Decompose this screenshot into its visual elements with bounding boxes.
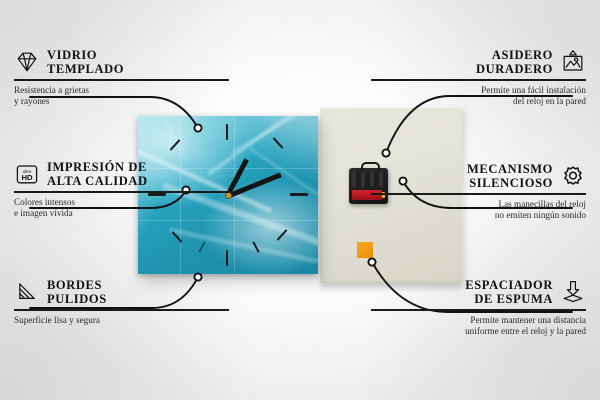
foam-spacer-arrow-icon <box>560 280 586 304</box>
feature-header: VIDRIO TEMPLADO <box>14 48 229 76</box>
feature-title: VIDRIO TEMPLADO <box>47 48 124 76</box>
diamond-icon <box>14 50 40 74</box>
gear-icon <box>560 164 586 188</box>
feature-title: MECANISMO SILENCIOSO <box>467 162 553 190</box>
feature-description: Colores intensos e imagen vívida <box>14 197 229 220</box>
clock-tick <box>273 137 284 149</box>
divider <box>14 79 229 81</box>
feature-title: ASIDERO DURADERO <box>476 48 553 76</box>
ultra-hd-badge-icon: ultra HD <box>14 162 40 186</box>
clock-tick <box>198 241 205 253</box>
feature-description: Permite una fácil instalación del reloj … <box>371 85 586 108</box>
feature-vidrio-templado: VIDRIO TEMPLADO Resistencia a grietas y … <box>14 48 229 107</box>
feature-description: Resistencia a grietas y rayones <box>14 85 229 108</box>
glass-gridline <box>138 220 318 221</box>
feature-title: IMPRESIÓN DE ALTA CALIDAD <box>47 160 148 188</box>
feature-title: ESPACIADOR DE ESPUMA <box>465 278 553 306</box>
foam-spacer <box>357 242 373 258</box>
feature-header: BORDES PULIDOS <box>14 278 229 306</box>
divider <box>371 79 586 81</box>
feature-description: Permite mantener una distancia uniforme … <box>371 315 586 338</box>
clock-tick <box>290 193 308 196</box>
polished-edges-icon <box>14 280 40 304</box>
feature-mecanismo-silencioso: MECANISMO SILENCIOSO Las manecillas del … <box>371 162 586 221</box>
feature-title: BORDES PULIDOS <box>47 278 107 306</box>
feature-espaciador-espuma: ESPACIADOR DE ESPUMA Permite mantener un… <box>371 278 586 337</box>
divider <box>371 193 586 195</box>
svg-text:HD: HD <box>21 173 33 182</box>
feature-header: ultra HD IMPRESIÓN DE ALTA CALIDAD <box>14 160 229 188</box>
divider <box>371 309 586 311</box>
feature-asidero-duradero: ASIDERO DURADERO Permite una fácil insta… <box>371 48 586 107</box>
hanging-frame-icon <box>560 50 586 74</box>
infographic-canvas: VIDRIO TEMPLADO Resistencia a grietas y … <box>0 0 600 400</box>
divider <box>14 191 229 193</box>
clock-tick <box>226 124 228 140</box>
feature-header: ASIDERO DURADERO <box>371 48 586 76</box>
feature-description: Superficie lisa y segura <box>14 315 229 326</box>
clock-tick <box>226 250 228 266</box>
feature-description: Las manecillas del reloj no emiten ningú… <box>371 199 586 222</box>
feather-streak <box>152 116 187 158</box>
feature-impresion-alta-calidad: ultra HD IMPRESIÓN DE ALTA CALIDAD Color… <box>14 160 229 219</box>
feature-header: MECANISMO SILENCIOSO <box>371 162 586 190</box>
divider <box>14 309 229 311</box>
feature-header: ESPACIADOR DE ESPUMA <box>371 278 586 306</box>
feature-bordes-pulidos: BORDES PULIDOS Superficie lisa y segura <box>14 278 229 326</box>
